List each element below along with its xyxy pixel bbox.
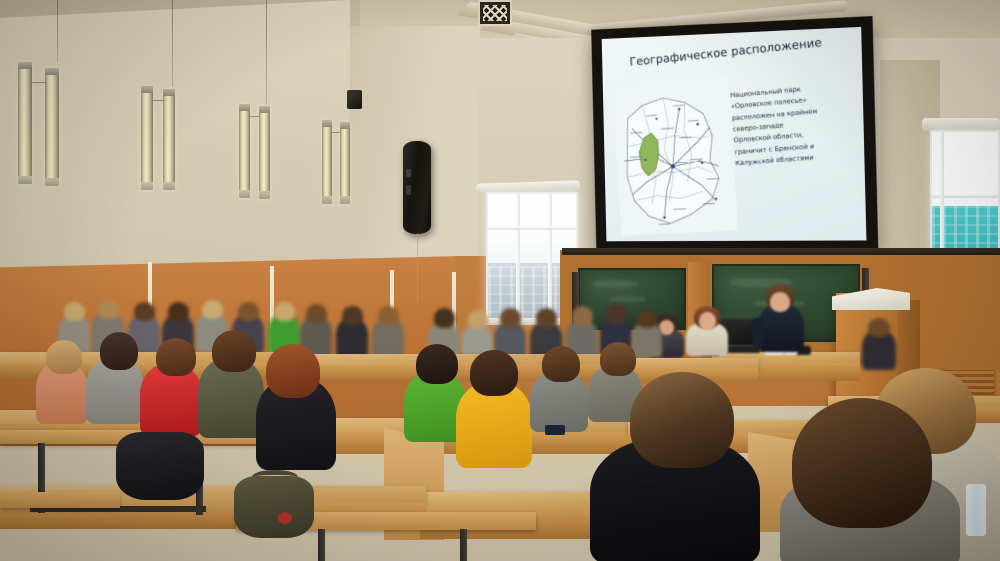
sconce-tube <box>141 86 153 190</box>
sconce-tube <box>239 104 250 198</box>
backpack-black <box>116 432 204 500</box>
slide-body-line: Национальный парк <box>730 79 858 102</box>
lecture-hall-photo: Географическое расположение <box>0 0 1000 561</box>
backpack-olive <box>234 476 314 538</box>
student-hair <box>868 318 890 337</box>
slide-map-image <box>612 77 738 236</box>
sconce-cable <box>57 0 58 62</box>
sconce-tube <box>322 120 332 204</box>
slide-title: Географическое расположение <box>629 36 822 70</box>
student-hair <box>416 344 458 384</box>
slide-body-line: северо-западе <box>733 114 862 136</box>
student-hair <box>202 300 223 319</box>
slide-body-line: граничит с Брянской и <box>734 137 863 158</box>
sconce-tube <box>340 122 350 204</box>
student-hair <box>606 304 627 324</box>
slide-body-line: «Орловское полесье» <box>731 91 860 113</box>
student-hair <box>572 306 593 326</box>
student-hair <box>98 300 119 319</box>
faculty-head <box>699 312 716 330</box>
map-svg <box>612 77 738 236</box>
student-hair <box>500 308 521 328</box>
speaker-icon <box>347 90 362 109</box>
student-hair <box>378 306 399 325</box>
sconce-crossbar <box>332 132 340 133</box>
left-window-transom <box>488 226 576 230</box>
sconce-tube <box>45 68 59 186</box>
student-hair <box>266 344 320 398</box>
slide-body-line: Калужской областями <box>735 149 864 170</box>
water-bottle[interactable] <box>966 484 986 536</box>
student-hair <box>100 332 138 370</box>
presentation-slide: Географическое расположение <box>602 27 867 242</box>
foreground-hair <box>630 372 734 468</box>
sconce-cable <box>266 0 267 105</box>
student-hair <box>168 302 189 321</box>
foreground-hair <box>792 398 932 528</box>
student-hair <box>470 350 518 396</box>
phone-on-desk[interactable] <box>545 425 565 435</box>
backpack-strap <box>252 470 298 484</box>
student-hair <box>46 340 82 374</box>
bench-leg <box>460 529 467 561</box>
sconce-cable <box>172 0 173 87</box>
student-hair <box>212 330 256 372</box>
presenter-head <box>770 292 790 312</box>
student-hair <box>468 310 488 329</box>
student-hair <box>274 302 295 321</box>
banner-cable <box>417 233 418 303</box>
student-hair <box>156 338 196 376</box>
presenter-arm <box>752 318 764 348</box>
slide-body-line: Орловской области, <box>733 125 862 147</box>
rolled-banner <box>403 141 431 234</box>
student-hair <box>342 306 363 325</box>
slide-body-line: расположен на крайнем <box>732 102 861 124</box>
student-hair <box>637 310 657 328</box>
student-hair <box>434 308 455 328</box>
ceiling-vent-grille-icon <box>478 0 512 26</box>
student-hair <box>542 346 580 382</box>
chalk-smudge <box>592 280 638 288</box>
sconce-crossbar <box>153 100 163 101</box>
sconce-tube <box>18 62 32 184</box>
student-hair <box>134 302 155 321</box>
bench-leg <box>318 529 325 561</box>
left-window-mullion <box>516 194 520 318</box>
student-hair <box>600 342 636 376</box>
sconce-tube <box>163 89 175 190</box>
slide-body-text: Национальный парк «Орловское полесье» ра… <box>730 79 864 169</box>
projection-screen[interactable]: Географическое расположение <box>591 16 878 252</box>
sconce-tube <box>259 106 270 199</box>
left-window-mullion <box>548 194 552 318</box>
student-hair <box>238 302 259 321</box>
sconce-crossbar <box>250 116 259 117</box>
chalk-smudge <box>610 296 646 302</box>
sconce-crossbar <box>32 82 46 83</box>
board-top-trim <box>562 248 1000 255</box>
bench-row-2[interactable] <box>0 492 120 508</box>
student-hair <box>306 304 327 323</box>
student-hair <box>64 302 85 321</box>
backpack-patch <box>278 512 292 524</box>
student-hair <box>536 308 557 328</box>
